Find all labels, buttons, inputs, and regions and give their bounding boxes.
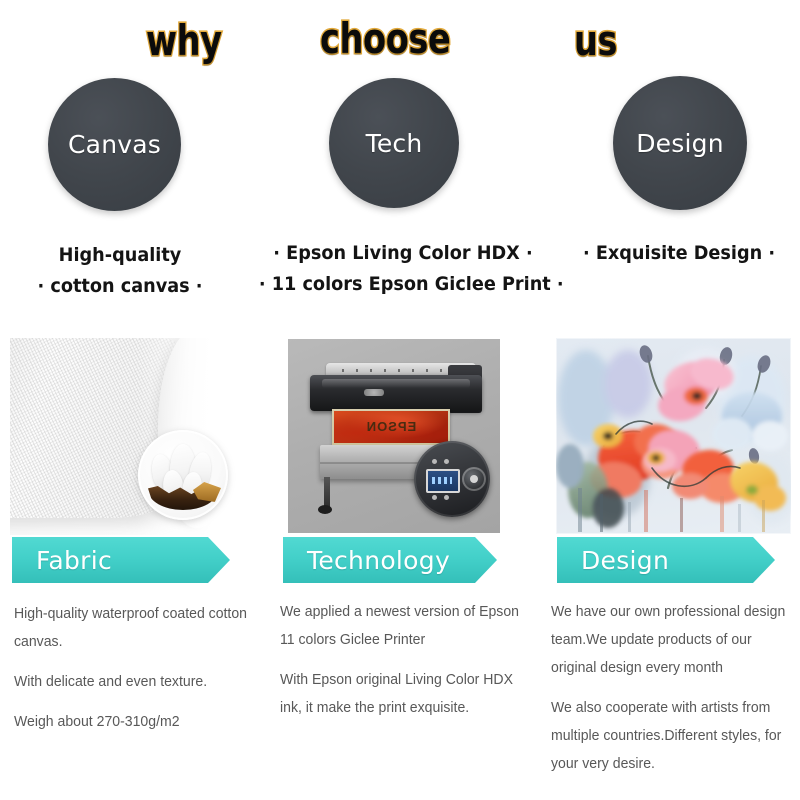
description-design: We have our own professional design team…	[551, 598, 794, 790]
bullets-tech: · Epson Living Color HDX · · 11 colors E…	[259, 238, 547, 300]
banner-label-fabric: Fabric	[36, 546, 112, 575]
headline-word-why: why	[146, 14, 222, 68]
printed-artwork-label: EPSON	[332, 419, 450, 434]
banner-label-design: Design	[581, 546, 669, 575]
description-paragraph: We applied a newest version of Epson 11 …	[280, 598, 534, 654]
photo-fabric	[10, 338, 246, 535]
headline-banner: why choose us	[0, 8, 800, 70]
printer-body	[310, 375, 482, 411]
printer-button-icon	[432, 459, 437, 464]
printer-caster	[318, 505, 332, 514]
bullets-design: · Exquisite Design ·	[566, 238, 791, 269]
description-paragraph: We have our own professional design team…	[551, 598, 794, 682]
watercolour-floral-illustration	[556, 338, 791, 534]
printer-lcd-screen	[426, 469, 460, 493]
bullet-line: · Epson Living Color HDX ·	[259, 238, 547, 269]
description-paragraph: Weigh about 270-310g/m2	[14, 708, 257, 736]
bullet-line: · cotton canvas ·	[8, 271, 231, 302]
photo-floral-art	[556, 338, 791, 534]
bullet-line: · Exquisite Design ·	[566, 238, 791, 269]
printer-button-icon	[444, 459, 449, 464]
bullet-line: · 11 colors Epson Giclee Print ·	[259, 269, 547, 300]
printer-button-icon	[432, 495, 437, 500]
description-fabric: High-quality waterproof coated cotton ca…	[14, 600, 257, 748]
cotton-boll-inset	[138, 430, 228, 520]
circle-badge-design: Design	[613, 76, 747, 210]
description-technology: We applied a newest version of Epson 11 …	[280, 598, 534, 734]
printer-control-panel-inset	[414, 441, 490, 517]
printer-dial-icon	[462, 467, 486, 491]
banner-technology: Technology	[283, 537, 497, 583]
banner-fabric: Fabric	[12, 537, 230, 583]
printer-logo	[364, 389, 384, 396]
description-paragraph: High-quality waterproof coated cotton ca…	[14, 600, 257, 656]
banner-label-technology: Technology	[307, 546, 450, 575]
bullets-canvas: High-quality · cotton canvas ·	[8, 240, 231, 302]
banner-design: Design	[557, 537, 775, 583]
headline-word-choose: choose	[320, 12, 450, 66]
printed-artwork: EPSON	[332, 409, 450, 445]
circle-label-design: Design	[636, 129, 724, 158]
description-paragraph: We also cooperate with artists from mult…	[551, 694, 794, 778]
photo-printer: EPSON	[288, 339, 500, 533]
printer-button-icon	[444, 495, 449, 500]
circle-badge-tech: Tech	[329, 78, 459, 208]
circle-label-tech: Tech	[366, 129, 423, 158]
description-paragraph: With Epson original Living Color HDX ink…	[280, 666, 534, 722]
bullet-line: High-quality	[8, 240, 231, 271]
description-paragraph: With delicate and even texture.	[14, 668, 257, 696]
headline-word-us: us	[574, 14, 617, 68]
circle-badge-canvas: Canvas	[48, 78, 181, 211]
circle-label-canvas: Canvas	[68, 130, 161, 159]
